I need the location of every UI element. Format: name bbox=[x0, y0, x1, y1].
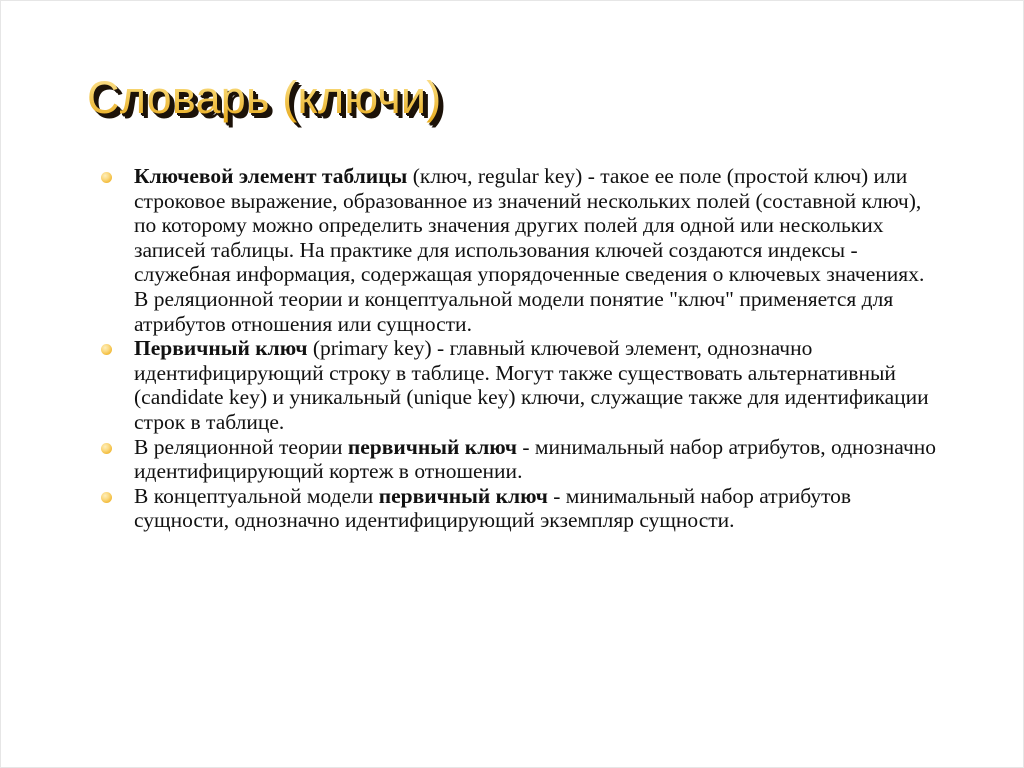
list-item-text: В реляционной теории первичный ключ - ми… bbox=[134, 435, 937, 484]
slide-bullet-list: Ключевой элемент таблицы (ключ, regular … bbox=[97, 164, 937, 533]
emphasis-term: Ключевой элемент таблицы bbox=[134, 164, 407, 188]
bullet-dot-icon bbox=[101, 172, 112, 183]
bullet-dot-icon bbox=[101, 344, 112, 355]
bullet-dot-icon bbox=[101, 492, 112, 503]
presentation-slide: Словарь (ключи) Ключевой элемент таблицы… bbox=[0, 0, 1024, 768]
list-item-text: Ключевой элемент таблицы (ключ, regular … bbox=[134, 164, 937, 336]
list-item: В реляционной теории первичный ключ - ми… bbox=[97, 435, 937, 484]
bullet-dot-icon bbox=[101, 443, 112, 454]
emphasis-term: первичный ключ bbox=[348, 435, 517, 459]
list-item: В концептуальной модели первичный ключ -… bbox=[97, 484, 937, 533]
page-title: Словарь (ключи) bbox=[87, 69, 947, 127]
list-item-text: Первичный ключ (primary key) - главный к… bbox=[134, 336, 937, 434]
emphasis-term: первичный ключ bbox=[379, 484, 548, 508]
list-item: Ключевой элемент таблицы (ключ, regular … bbox=[97, 164, 937, 336]
emphasis-term: Первичный ключ bbox=[134, 336, 307, 360]
list-item-text: В концептуальной модели первичный ключ -… bbox=[134, 484, 937, 533]
body-text: В концептуальной модели bbox=[134, 484, 379, 508]
list-item: Первичный ключ (primary key) - главный к… bbox=[97, 336, 937, 434]
body-text: В реляционной теории bbox=[134, 435, 348, 459]
slide-title-container: Словарь (ключи) bbox=[87, 69, 947, 131]
body-text: (ключ, regular key) - такое ее поле (про… bbox=[134, 164, 924, 336]
